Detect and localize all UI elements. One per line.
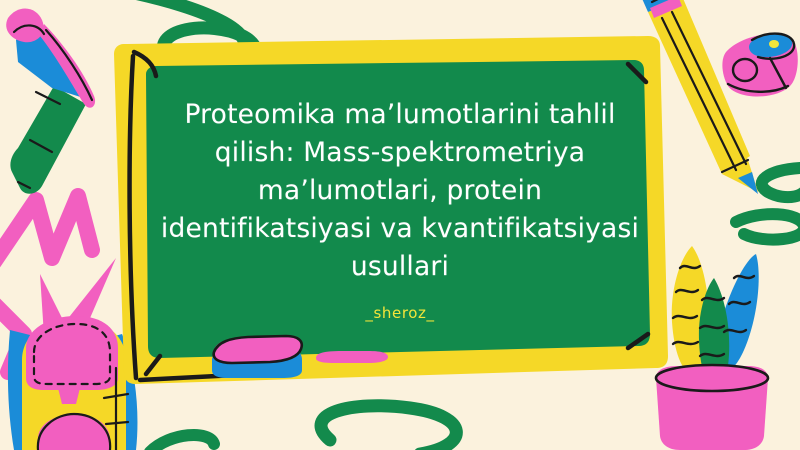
chalkboard xyxy=(114,36,668,384)
slide-canvas: Proteomika ma’lumotlarini tahlil qilish:… xyxy=(0,0,800,450)
sharpener-screw xyxy=(769,40,779,48)
chalk-stick xyxy=(316,351,388,363)
plant-pot xyxy=(656,366,768,450)
backpack-flap xyxy=(26,316,118,390)
chalkboard-surface xyxy=(146,60,650,358)
chalkboard-eraser xyxy=(212,336,302,378)
decorative-illustration-layer xyxy=(0,0,800,450)
